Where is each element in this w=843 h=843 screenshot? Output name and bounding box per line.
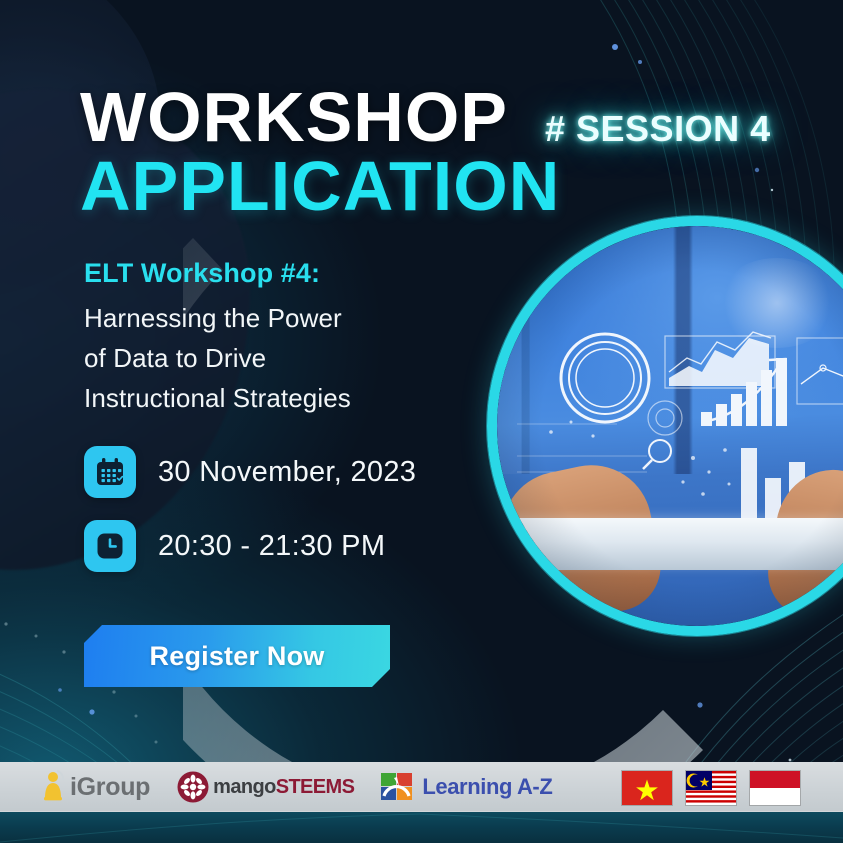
- clock-icon: [84, 520, 136, 572]
- logo-igroup: iGroup: [42, 768, 150, 806]
- logo-igroup-label: iGroup: [70, 773, 150, 802]
- logo-mangosteems: mangoSTEEMS: [176, 770, 354, 804]
- flag-indonesia: [749, 770, 801, 806]
- logo-mangosteems-label-part1: mango: [213, 776, 276, 798]
- bottom-strip: [0, 812, 843, 843]
- flag-malaysia: [685, 770, 737, 806]
- learning-a-z-mark-icon: [380, 770, 416, 804]
- country-flags: [621, 770, 801, 806]
- register-now-button[interactable]: Register Now: [84, 625, 390, 687]
- flag-vietnam: [621, 770, 673, 806]
- subtitle-line-3: Instructional Strategies: [84, 378, 484, 418]
- subtitle-block: ELT Workshop #4: Harnessing the Power of…: [84, 258, 484, 418]
- logo-mangosteems-label-part2: STEEMS: [276, 776, 355, 798]
- event-details: 30 November, 2023 20:30 - 21:30 PM: [84, 446, 416, 594]
- headline-line-2: APPLICATION: [80, 153, 560, 220]
- mangosteems-mark-icon: [176, 770, 210, 804]
- igroup-figure-icon: [42, 768, 68, 806]
- page-title: WORKSHOP APPLICATION: [80, 84, 560, 220]
- logo-learning-a-z: Learning A-Z: [380, 770, 552, 804]
- event-time-row: 20:30 - 21:30 PM: [84, 520, 416, 572]
- subtitle-lead: ELT Workshop #4:: [84, 258, 484, 289]
- calendar-icon: [84, 446, 136, 498]
- headline-line-1: WORKSHOP: [80, 84, 560, 151]
- poster: WORKSHOP APPLICATION # SESSION 4 ELT Wor…: [0, 0, 843, 843]
- event-date: 30 November, 2023: [158, 456, 416, 489]
- subtitle-line-1: Harnessing the Power: [84, 298, 484, 338]
- event-date-row: 30 November, 2023: [84, 446, 416, 498]
- register-now-label: Register Now: [150, 641, 325, 672]
- subtitle-line-2: of Data to Drive: [84, 338, 484, 378]
- session-badge: # SESSION 4: [545, 108, 771, 150]
- hero-image-circle: [487, 216, 843, 636]
- logo-learning-a-z-label: Learning A-Z: [422, 774, 552, 800]
- event-time: 20:30 - 21:30 PM: [158, 530, 385, 563]
